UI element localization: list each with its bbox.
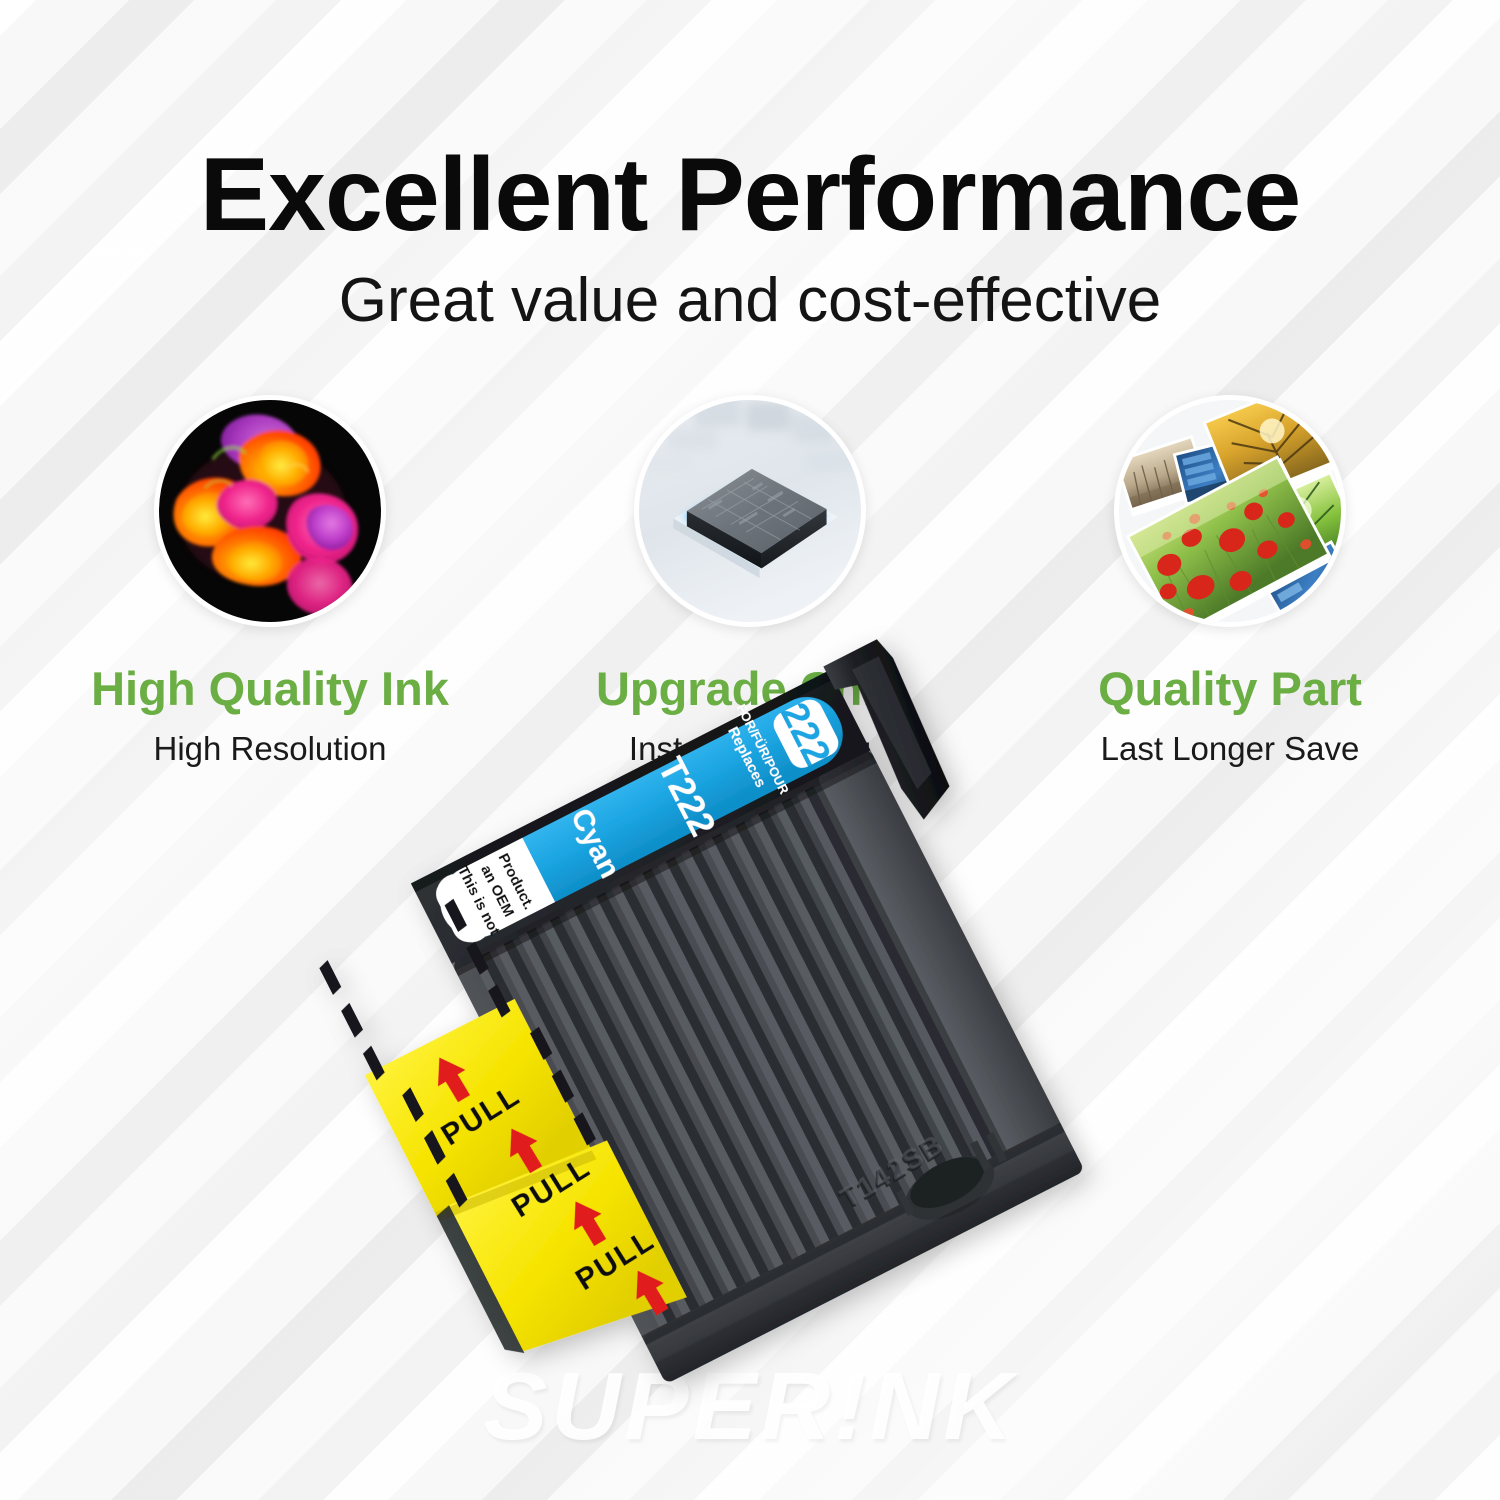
feature-subtitle: High Resolution <box>154 732 387 765</box>
feature-row: High Quality Ink High Resolution <box>60 395 1440 765</box>
feature-title: High Quality Ink <box>91 665 449 712</box>
ink-swirl-icon <box>154 395 386 627</box>
microchip-icon <box>634 395 866 627</box>
feature-title: Quality Part <box>1098 665 1362 712</box>
page-title: Excellent Performance <box>0 143 1500 247</box>
feature-quality-part: Quality Part Last Longer Save <box>1020 395 1440 765</box>
feature-title: Upgrade Chip <box>596 665 904 712</box>
feature-upgrade-chip: Upgrade Chip Instant Matching <box>540 395 960 765</box>
page-subtitle: Great value and cost-effective <box>0 270 1500 332</box>
feature-high-quality-ink: High Quality Ink High Resolution <box>60 395 480 765</box>
photo-collage-icon <box>1114 395 1346 627</box>
feature-subtitle: Last Longer Save <box>1101 732 1360 765</box>
feature-subtitle: Instant Matching <box>629 732 871 765</box>
